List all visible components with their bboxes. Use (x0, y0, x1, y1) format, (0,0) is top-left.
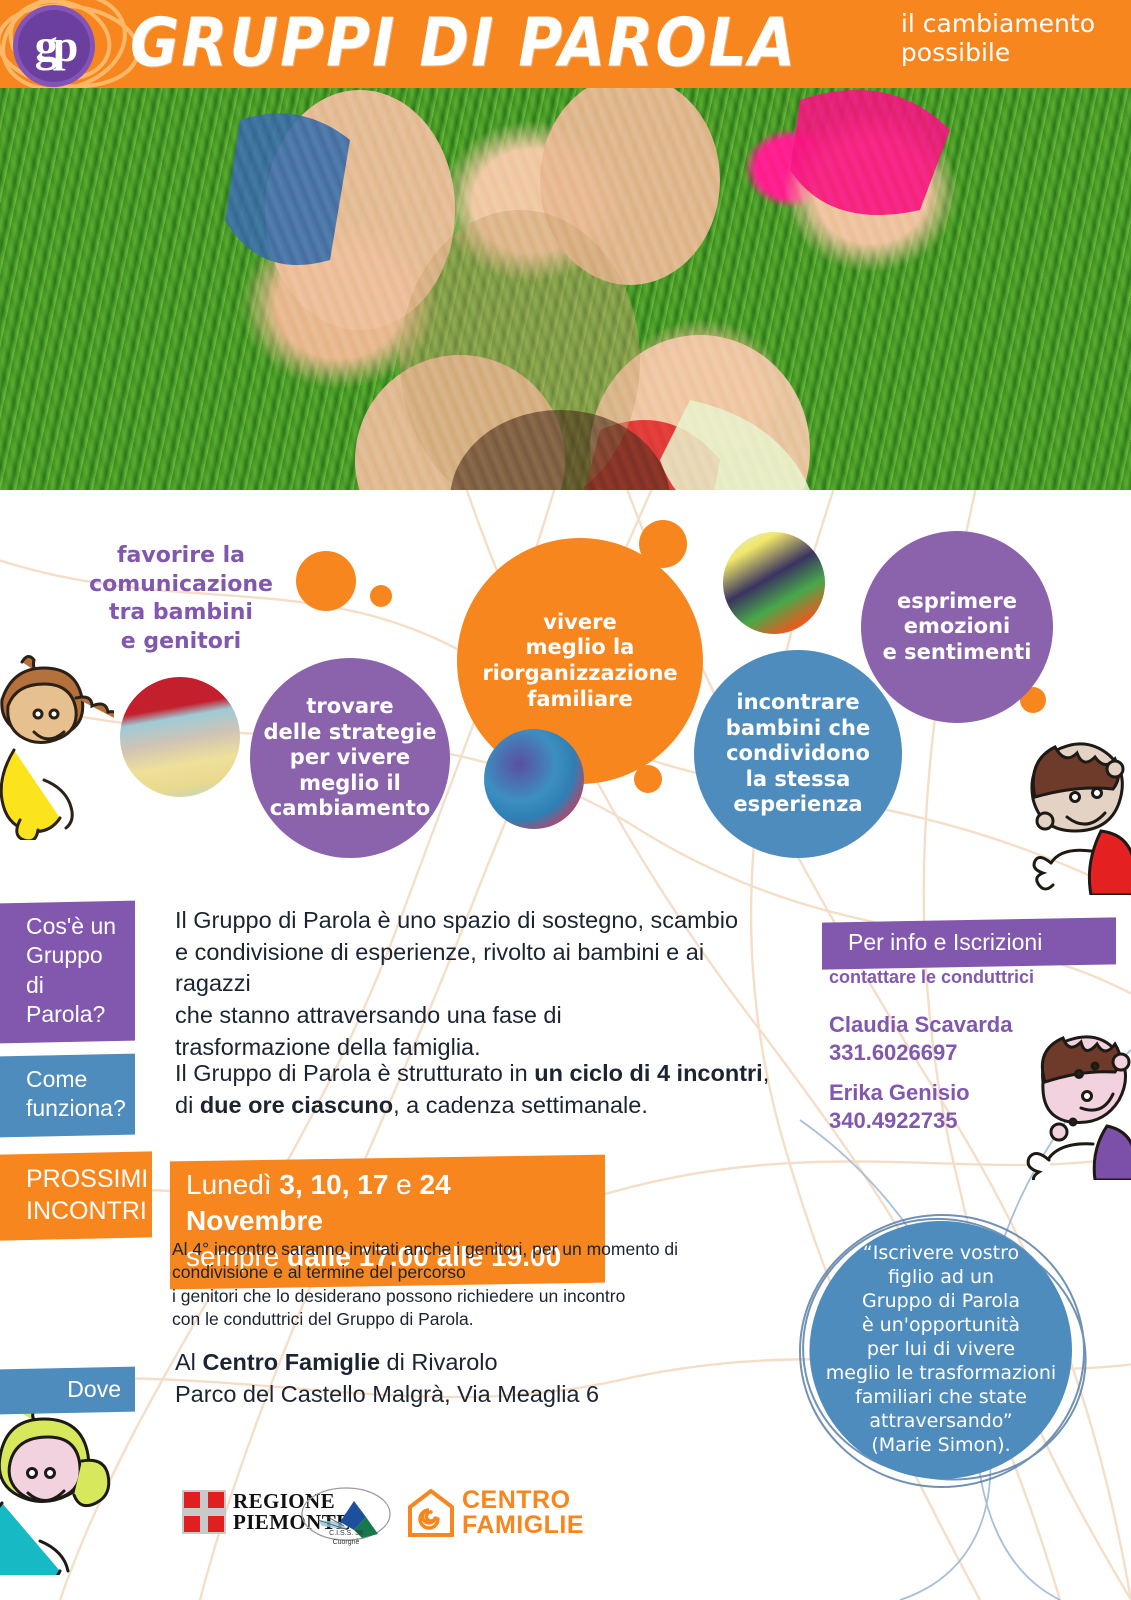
date-line1-plain: Lunedì (186, 1169, 279, 1200)
tag-cose-label: Cos'è un Gruppo di Parola? (26, 912, 119, 1030)
cf-line1: CENTRO (462, 1488, 584, 1513)
note-fourth-meeting: Al 4° incontro saranno invitati anche i … (172, 1238, 712, 1331)
header-bar: gp GRUPPI DI PAROLA il cambiamento possi… (0, 0, 1131, 88)
contacts-heading-banner: Per info e Iscrizioni (822, 917, 1116, 969)
dove-bold: Centro Famiglie (202, 1349, 380, 1375)
date-line-1: Lunedì 3, 10, 17 e 24 Novembre (186, 1167, 589, 1239)
bubble-esprimere-text: esprimere emozioni e sentimenti (883, 589, 1032, 666)
photo-circle-craft (484, 729, 584, 829)
date-line1-mid: e (388, 1169, 419, 1200)
header-photo-children-on-grass (0, 60, 1131, 530)
page-title: GRUPPI DI PAROLA (130, 4, 797, 82)
bubble-incontrare-text: incontrare bambini che condividono la st… (726, 690, 870, 818)
tag-cose-un-gruppo-di-parola: Cos'è un Gruppo di Parola? (0, 901, 135, 1044)
centro-famiglie-house-spiral-icon (408, 1489, 454, 1537)
body-cose-text: Il Gruppo di Parola è uno spazio di sost… (175, 907, 738, 1060)
regione-piemonte-cross-icon (182, 1490, 226, 1534)
tag-prossimi-incontri: PROSSIMI INCONTRI (0, 1151, 152, 1240)
dove-plain-a: Al (175, 1349, 202, 1375)
contact-1-name: Claudia Scavarda (829, 1011, 1012, 1039)
contact-person-1: Claudia Scavarda 331.6026697 (829, 1011, 1012, 1067)
tag-come-funziona: Come funziona? (0, 1054, 135, 1138)
cf-line2: FAMIGLIE (462, 1513, 584, 1538)
dove-plain-b: di Rivarolo (380, 1349, 498, 1375)
note-text: Al 4° incontro saranno invitati anche i … (172, 1239, 678, 1329)
contacts-subheading: contattare le conduttrici (829, 967, 1034, 988)
logo-centro-famiglie: CENTRO FAMIGLIE (408, 1488, 584, 1538)
favorire-label: favorire la comunicazione tra bambini e … (89, 543, 273, 654)
dove-line-2: Parco del Castello Malgrà, Via Meaglia 6 (175, 1379, 735, 1411)
ciss-line1: C.I.S.S. 38 (300, 1530, 392, 1539)
contacts-heading-text: Per info e Iscrizioni (848, 929, 1116, 956)
tag-prossimi-label: PROSSIMI INCONTRI (26, 1163, 136, 1227)
date-line1-bold: 3, 10, 17 (279, 1169, 388, 1200)
how-bold2: due ore ciascuno (200, 1092, 393, 1118)
kid-illustration-purple-girl (995, 1030, 1131, 1180)
bubble-trovare-strategie: trovare delle strategie per vivere megli… (250, 658, 450, 858)
photo-circle-chalks (120, 677, 240, 797)
body-cose-un-gruppo: Il Gruppo di Parola è uno spazio di sost… (175, 905, 755, 1064)
dove-line-1: Al Centro Famiglie di Rivarolo (175, 1347, 735, 1379)
contact-person-2: Erika Genisio 340.4922735 (829, 1079, 970, 1135)
poster-root: gp GRUPPI DI PAROLA il cambiamento possi… (0, 0, 1131, 1600)
gp-logo-icon: gp (18, 10, 90, 82)
subtitle-line-2: possibile (901, 39, 1095, 68)
quote-circle: “Iscrivere vostro figlio ad un Gruppo di… (810, 1221, 1072, 1479)
how-bold1: un ciclo di 4 incontri (534, 1060, 763, 1086)
how-lead2: di (175, 1092, 200, 1118)
photo-circle-kids-drawing (723, 532, 825, 634)
body-dove: Al Centro Famiglie di Rivarolo Parco del… (175, 1347, 735, 1410)
centro-famiglie-text: CENTRO FAMIGLIE (462, 1488, 584, 1538)
tag-come-funziona-label: Come funziona? (26, 1065, 119, 1124)
contact-1-phone: 331.6026697 (829, 1039, 1012, 1067)
bubble-vivere-text: vivere meglio la riorganizzazione famili… (482, 610, 677, 712)
subtitle-line-1: il cambiamento (901, 10, 1095, 39)
quote-block: “Iscrivere vostro figlio ad un Gruppo di… (790, 1205, 1090, 1495)
decor-dot-orange-2 (370, 585, 392, 607)
contact-2-name: Erika Genisio (829, 1079, 970, 1107)
ciss-line2: Cuorgnè (300, 1539, 392, 1548)
body-come-funziona: Il Gruppo di Parola è strutturato in un … (175, 1058, 775, 1121)
kid-illustration-yellow-girl (0, 640, 114, 840)
tag-dove: Dove (0, 1367, 135, 1415)
kid-illustration-red-boy (1005, 735, 1131, 895)
how-mid2: , a cadenza settimanale. (393, 1092, 648, 1118)
bubble-trovare-text: trovare delle strategie per vivere megli… (263, 694, 436, 822)
tag-dove-label: Dove (14, 1375, 121, 1404)
bubble-esprimere-emozioni: esprimere emozioni e sentimenti (861, 531, 1053, 723)
page-subtitle: il cambiamento possibile (901, 10, 1095, 68)
footer-logos: REGIONE PIEMONTE C.I.S.S. 38 Cuorgnè CEN… (0, 1480, 1131, 1565)
gp-logo-text: gp (18, 10, 90, 82)
contact-2-phone: 340.4922735 (829, 1107, 970, 1135)
bubble-incontrare-bambini: incontrare bambini che condividono la st… (694, 650, 902, 858)
logo-ciss-text: C.I.S.S. 38 Cuorgnè (300, 1530, 392, 1548)
how-mid1: , (763, 1060, 770, 1086)
quote-text: “Iscrivere vostro figlio ad un Gruppo di… (826, 1242, 1056, 1457)
how-lead1: Il Gruppo di Parola è strutturato in (175, 1060, 534, 1086)
